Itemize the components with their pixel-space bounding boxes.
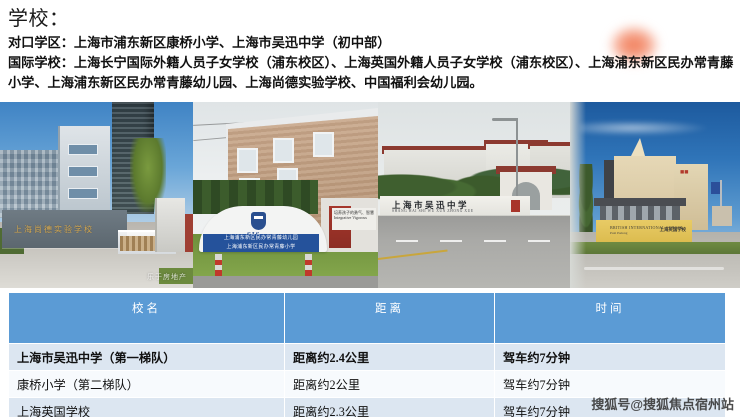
window xyxy=(237,148,258,173)
sign-right-label: 上海英国学校 xyxy=(660,227,686,233)
photo-wuxun-middle-school: 上海市吴迅中学 SHANG HAI SHI WU XUN ZHONG XUE xyxy=(378,102,570,288)
column-header-school: 校名 xyxy=(9,293,285,344)
cell-distance: 距离约2.3公里 xyxy=(285,398,495,417)
red-logo-icon: ■■ xyxy=(680,168,688,176)
window xyxy=(273,138,294,163)
window xyxy=(313,132,334,157)
cell-distance: 距离约2公里 xyxy=(285,371,495,398)
street-lamp-arm xyxy=(492,118,518,121)
road-dash xyxy=(396,240,418,242)
school-signboard: SIS 上海浦东新区民办常青藤幼儿园 上海浦东新区民办常青藤小学 xyxy=(199,206,327,252)
school-yellow-sign: BRITISH INTERNATIONAL SCHOOL Puxi Pudong… xyxy=(596,220,692,242)
road xyxy=(193,276,378,288)
road-dash xyxy=(484,240,506,242)
photo-strip: 上海尚德实验学校 乐于房地产 培养孩子的勇气、智慧 Integr xyxy=(0,102,740,288)
photo-sis-ivy-school: 培养孩子的勇气、智慧 Integrative Vigorous SIS 上海浦东… xyxy=(193,102,378,288)
table-header-row: 校名 距离 时间 xyxy=(9,293,726,344)
photo-seam xyxy=(570,102,586,288)
road-dash xyxy=(528,240,550,242)
cell-time: 驾车约7分钟 xyxy=(495,344,726,371)
school-name-wall: 上海尚德实验学校 xyxy=(2,210,127,248)
photo-shangde-experimental-school: 上海尚德实验学校 乐于房地产 xyxy=(0,102,193,288)
sohu-watermark: 搜狐号@搜狐焦点宿州站 xyxy=(591,394,734,413)
road xyxy=(378,216,570,288)
cell-school: 上海英国学校 xyxy=(9,398,285,417)
cell-distance: 距离约2.4公里 xyxy=(285,344,495,371)
guard-kiosk xyxy=(155,198,185,252)
cell-school: 康桥小学（第二梯队） xyxy=(9,371,285,398)
photo-watermark: 乐于房地产 xyxy=(147,272,187,282)
school-crest-icon xyxy=(251,212,266,230)
red-post xyxy=(185,214,193,252)
school-wall-pinyin: SHANG HAI SHI WU XUN ZHONG XUE xyxy=(392,209,474,213)
column-header-time: 时间 xyxy=(495,293,726,344)
paragraph-international-schools: 国际学校：上海长宁国际外籍人员子女学校（浦东校区）、上海英国外籍人员子女学校（浦… xyxy=(8,53,734,93)
kerb xyxy=(584,267,724,270)
traffic-cone xyxy=(305,254,312,276)
window xyxy=(68,166,98,177)
window xyxy=(68,144,98,155)
traffic-cone xyxy=(215,254,222,276)
cell-school: 上海市吴迅中学（第一梯队） xyxy=(9,344,285,371)
table-row: 上海市吴迅中学（第一梯队） 距离约2.4公里 驾车约7分钟 xyxy=(9,344,726,371)
mid-building xyxy=(58,126,110,218)
photo-british-international-school: ■■ BRITISH INTERNATIONAL SCHOOL Puxi Pud… xyxy=(570,102,740,288)
sign-line-2: Puxi Pudong xyxy=(610,231,627,235)
road-dash xyxy=(440,240,462,242)
cloud xyxy=(580,120,710,136)
red-seal-icon xyxy=(511,200,520,212)
sign-line-1: 上海浦东新区民办常青藤幼儿园 xyxy=(203,234,319,243)
slide-page: 学校： 对口学区：上海市浦东新区康桥小学、上海市吴迅中学（初中部） 国际学校：上… xyxy=(0,0,740,417)
roadside-box xyxy=(712,206,732,226)
green-strip xyxy=(570,242,740,254)
sign-line-2: 上海浦东新区民办常青藤小学 xyxy=(203,243,319,252)
window xyxy=(68,188,98,199)
canopy xyxy=(594,198,686,206)
school-wall-text: 上海尚德实验学校 xyxy=(14,224,94,235)
paragraph-school-district: 对口学区：上海市浦东新区康桥小学、上海市吴迅中学（初中部） xyxy=(8,33,734,53)
text-block: 学校： 对口学区：上海市浦东新区康桥小学、上海市吴迅中学（初中部） 国际学校：上… xyxy=(0,0,740,93)
page-title: 学校： xyxy=(8,6,734,32)
column-header-distance: 距离 xyxy=(285,293,495,344)
wall-sign: 培养孩子的勇气、智慧 Integrative Vigorous xyxy=(332,208,376,230)
